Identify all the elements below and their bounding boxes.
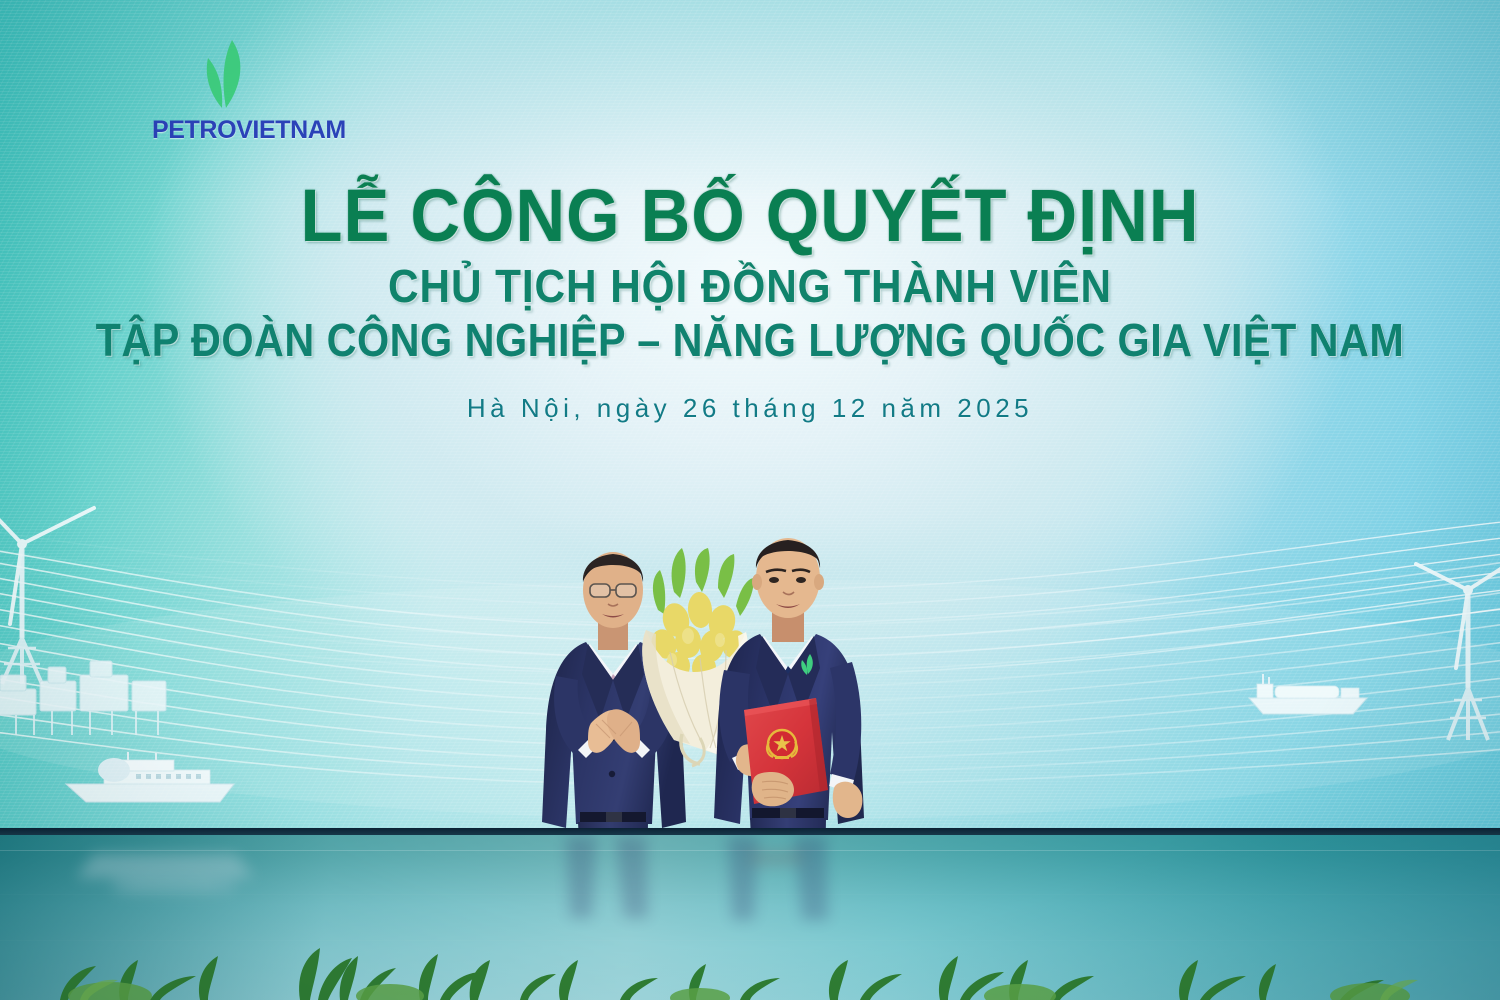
vietnam-national-emblem-icon — [767, 730, 797, 759]
headline-block: LỄ CÔNG BỐ QUYẾT ĐỊNH CHỦ TỊCH HỘI ĐỒNG … — [0, 180, 1500, 424]
event-date-line: Hà Nội, ngày 26 tháng 12 năm 2025 — [0, 393, 1500, 424]
event-subtitle-role: CHỦ TỊCH HỘI ĐỒNG THÀNH VIÊN — [60, 263, 1440, 309]
ship-reflection — [58, 838, 298, 908]
event-subtitle-org: TẬP ĐOÀN CÔNG NGHIỆP – NĂNG LƯỢNG QUỐC G… — [75, 317, 1425, 363]
person-reflection-left — [540, 836, 700, 946]
petrovietnam-logo: PETROVIETNAM — [152, 38, 332, 148]
foreground-plants — [0, 940, 1500, 1000]
person-reflection-right — [708, 836, 878, 946]
stage-floor — [0, 828, 1500, 1000]
petrovietnam-wordmark: PETROVIETNAM — [152, 116, 332, 145]
stage-edge — [0, 828, 1500, 835]
flame-leaf-mark-icon — [192, 38, 258, 114]
event-photo: PETROVIETNAM LỄ CÔNG BỐ QUYẾT ĐỊNH CHỦ T… — [0, 0, 1500, 1000]
event-title: LỄ CÔNG BỐ QUYẾT ĐỊNH — [53, 180, 1448, 253]
